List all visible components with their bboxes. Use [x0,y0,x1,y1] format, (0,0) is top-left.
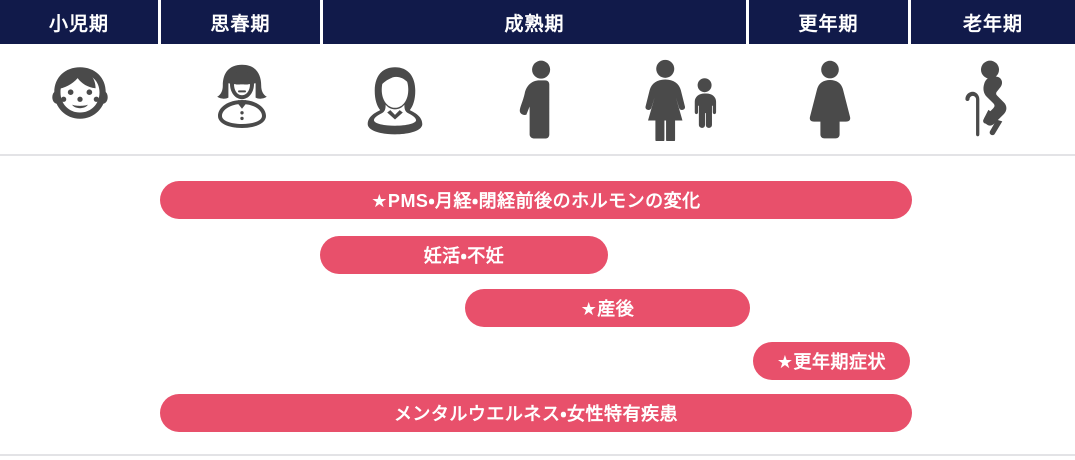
stage-cell-old-age: 老年期 [911,0,1075,44]
stage-label: 成熟期 [504,9,564,36]
life-stage-diagram: 小児期 思春期 成熟期 更年期 老年期 [0,0,1075,460]
topic-pill-fertility[interactable]: 妊活・不妊 [320,236,608,274]
stage-label: 思春期 [210,9,270,36]
topic-pill-area: ★PMS・月経・閉経前後のホルモンの変化 妊活・不妊 ★産後 ★更年期症状 メン… [0,156,1075,454]
pill-label: メンタルウエルネス・女性特有疾患 [394,400,678,426]
stage-label: 更年期 [798,9,858,36]
bottom-divider [0,454,1075,456]
topic-pill-menopause-symptoms[interactable]: ★更年期症状 [753,342,910,380]
child-face-icon [41,61,119,139]
stage-label: 老年期 [963,9,1023,36]
topic-pill-mental-wellness[interactable]: メンタルウエルネス・女性特有疾患 [160,394,912,432]
icon-slot-maturity-woman [335,44,455,156]
adult-woman-icon [356,61,434,139]
icon-slot-mother-child [620,44,740,156]
pill-label: ★更年期症状 [777,348,886,374]
elderly-woman-cane-icon [959,59,1021,141]
icon-slot-childhood [20,44,140,156]
icon-slot-adolescence [182,44,302,156]
mother-and-child-icon [634,59,726,141]
stage-cell-adolescence: 思春期 [161,0,323,44]
pill-label: 妊活・不妊 [424,242,505,268]
icon-slot-old-age [930,44,1050,156]
stage-header-row: 小児期 思春期 成熟期 更年期 老年期 [0,0,1075,44]
topic-pill-hormone-changes[interactable]: ★PMS・月経・閉経前後のホルモンの変化 [160,181,912,219]
stage-cell-childhood: 小児期 [0,0,161,44]
menopause-woman-icon [801,60,859,140]
pregnant-woman-icon [506,59,568,141]
icon-slot-menopause [770,44,890,156]
stage-cell-menopause: 更年期 [749,0,911,44]
pill-label: ★PMS・月経・閉経前後のホルモンの変化 [371,187,700,213]
icon-slot-pregnancy [477,44,597,156]
stage-label: 小児期 [49,9,109,36]
topic-pill-postpartum[interactable]: ★産後 [465,289,750,327]
stage-icon-row [0,44,1075,156]
pill-label: ★産後 [581,295,635,321]
stage-cell-maturity: 成熟期 [323,0,749,44]
adolescent-girl-icon [202,60,282,140]
